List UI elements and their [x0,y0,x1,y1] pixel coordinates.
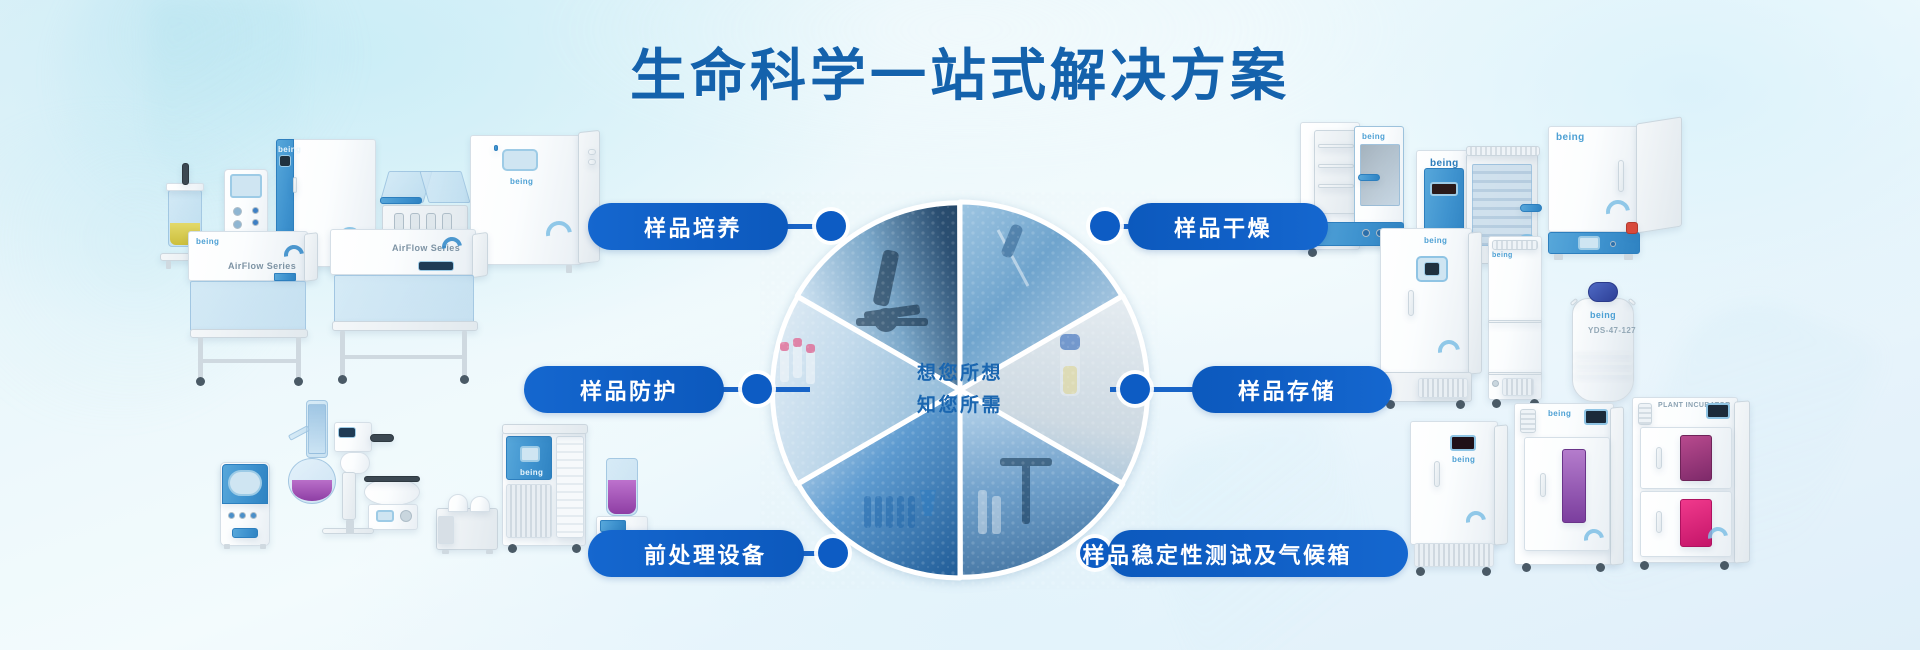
product-rotary-evaporator [282,400,422,556]
node-dot-sample-storage[interactable] [1120,374,1150,404]
category-label-pretreatment-equipment: 前处理设备 [644,538,767,570]
category-label-sample-cultivation: 样品培养 [644,211,742,243]
category-label-stability-testing-climate-chamber: 样品稳定性测试及气候箱 [1082,538,1352,570]
category-wheel-petals [760,190,1160,590]
category-pill-sample-storage[interactable]: 样品存储 [1192,366,1392,413]
page-title: 生命科学一站式解决方案 [0,44,1920,108]
product-homogenizer [220,462,270,550]
bg-decor-flask-3 [1135,405,1406,650]
category-pill-sample-cultivation[interactable]: 样品培养 [588,203,788,250]
product-cluster-sample-storage: being being being YDS- [1380,228,1770,418]
banner-root: 生命科学一站式解决方案 [0,0,1920,650]
node-dot-sample-protection[interactable] [742,374,772,404]
node-dot-sample-cultivation[interactable] [816,211,846,241]
category-pill-sample-protection[interactable]: 样品防护 [524,366,724,413]
category-label-sample-storage: 样品存储 [1238,374,1336,406]
product-ult-freezer: being [1380,228,1480,408]
product-cluster-pretreatment-equipment: being [200,400,630,560]
category-label-sample-drying: 样品干燥 [1174,211,1272,243]
product-cluster-stability-testing-climate-chamber: being being PLANT INCUBATOR [1410,395,1790,585]
product-cluster-sample-protection: being AirFlow Series AirFlow Series [180,225,530,385]
node-dot-pretreatment-equipment[interactable] [818,538,848,568]
category-wheel: 想您所想 知您所需 [760,190,1160,590]
product-liquid-nitrogen-tank: being YDS-47-127 [1568,282,1638,406]
category-pill-pretreatment-equipment[interactable]: 前处理设备 [588,530,804,577]
product-stability-chamber: being [1410,421,1506,577]
product-recirculating-chiller: being [502,424,592,554]
node-dot-sample-drying[interactable] [1090,211,1120,241]
product-climate-chamber: being [1514,403,1624,581]
product-plant-growth-chamber: PLANT INCUBATOR [1632,397,1752,581]
category-label-sample-protection: 样品防护 [580,374,678,406]
product-lab-refrigerator: being [1488,236,1544,408]
product-laminar-flow-hood: AirFlow Series [330,225,490,385]
product-vacuum-pump [436,494,498,554]
category-pill-sample-drying[interactable]: 样品干燥 [1128,203,1328,250]
product-biosafety-cabinet: being AirFlow Series [188,231,318,383]
category-pill-stability-testing-climate-chamber[interactable]: 样品稳定性测试及气候箱 [1108,530,1408,577]
